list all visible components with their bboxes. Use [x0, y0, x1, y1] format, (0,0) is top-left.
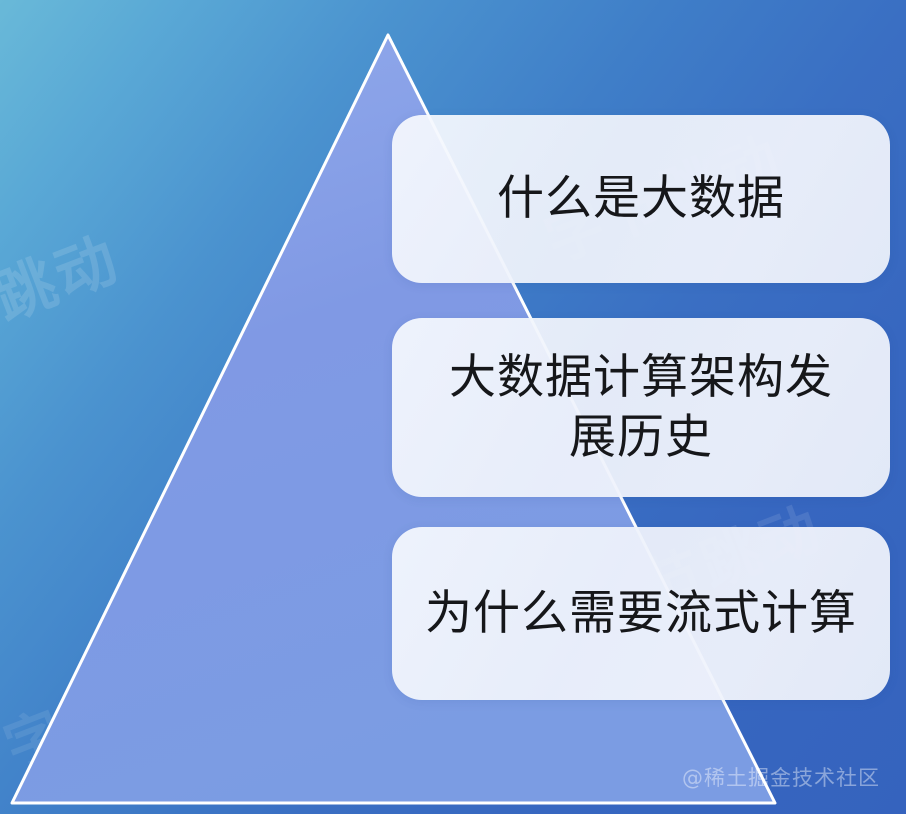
agenda-card-1-label: 什么是大数据: [497, 169, 785, 228]
agenda-card-3[interactable]: 为什么需要流式计算: [392, 527, 890, 700]
background-watermark: 字节跳动: [0, 639, 242, 777]
agenda-card-list: 什么是大数据 大数据计算架构发展历史 为什么需要流式计算: [392, 115, 890, 700]
background-watermark: 字节跳动: [0, 0, 166, 21]
agenda-card-1[interactable]: 什么是大数据: [392, 115, 890, 283]
slide-canvas: 字节跳动 字节跳动 字节跳动 字节跳动 字节跳动 字节跳动 字节跳动 什么是大数…: [0, 0, 906, 814]
agenda-card-2[interactable]: 大数据计算架构发展历史: [392, 318, 890, 497]
agenda-card-2-label: 大数据计算架构发展历史: [431, 348, 851, 466]
agenda-card-3-label: 为什么需要流式计算: [425, 584, 857, 643]
signature-watermark: @稀土掘金技术社区: [682, 762, 880, 792]
background-watermark: 字节跳动: [0, 228, 128, 376]
